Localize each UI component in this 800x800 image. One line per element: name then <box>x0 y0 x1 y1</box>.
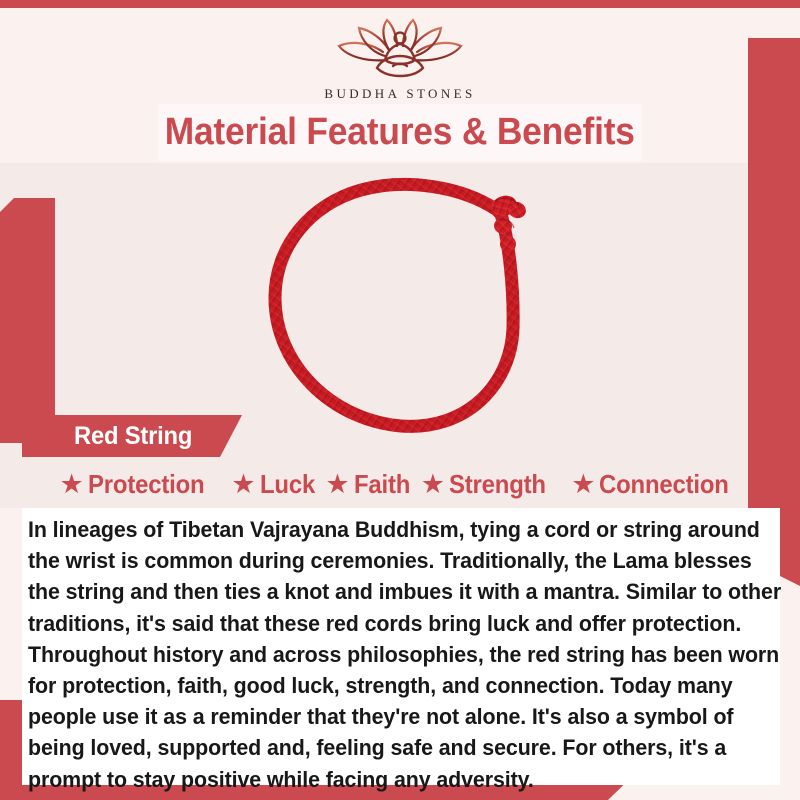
feature-item-protection: ★ Protection <box>60 469 215 500</box>
product-image-red-string-bracelet <box>265 168 555 443</box>
feature-label: Strength <box>449 469 546 500</box>
feature-item-luck: ★ Luck <box>231 469 319 500</box>
top-accent-bar <box>0 0 800 8</box>
page-title: Material Features & Benefits <box>165 111 635 154</box>
feature-label: Connection <box>599 469 729 500</box>
feature-item-faith: ★ Faith <box>325 469 414 500</box>
star-icon: ★ <box>231 471 255 498</box>
feature-label: Luck <box>260 469 315 500</box>
material-label: Red String <box>74 422 192 451</box>
feature-label: Faith <box>354 469 410 500</box>
lotus-meditation-figure-icon <box>325 16 475 84</box>
left-accent-strip <box>0 198 55 443</box>
star-icon: ★ <box>571 471 595 498</box>
brand-name: BUDDHA STONES <box>0 86 800 102</box>
description-panel: In lineages of Tibetan Vajrayana Buddhis… <box>22 508 780 785</box>
feature-item-strength: ★ Strength <box>421 469 555 500</box>
star-icon: ★ <box>60 471 84 498</box>
feature-list: ★ Protection ★ Luck ★ Faith ★ Strength ★… <box>22 464 778 504</box>
star-icon: ★ <box>421 471 445 498</box>
description-text: In lineages of Tibetan Vajrayana Buddhis… <box>28 514 782 795</box>
feature-item-connection: ★ Connection <box>571 469 740 500</box>
star-icon: ★ <box>325 471 349 498</box>
material-label-banner: Red String <box>22 415 242 457</box>
feature-label: Protection <box>88 469 204 500</box>
brand-logo: BUDDHA STONES <box>0 16 800 102</box>
title-panel: Material Features & Benefits <box>158 104 642 161</box>
infographic-page: BUDDHA STONES Material Features & Benefi… <box>0 0 800 800</box>
